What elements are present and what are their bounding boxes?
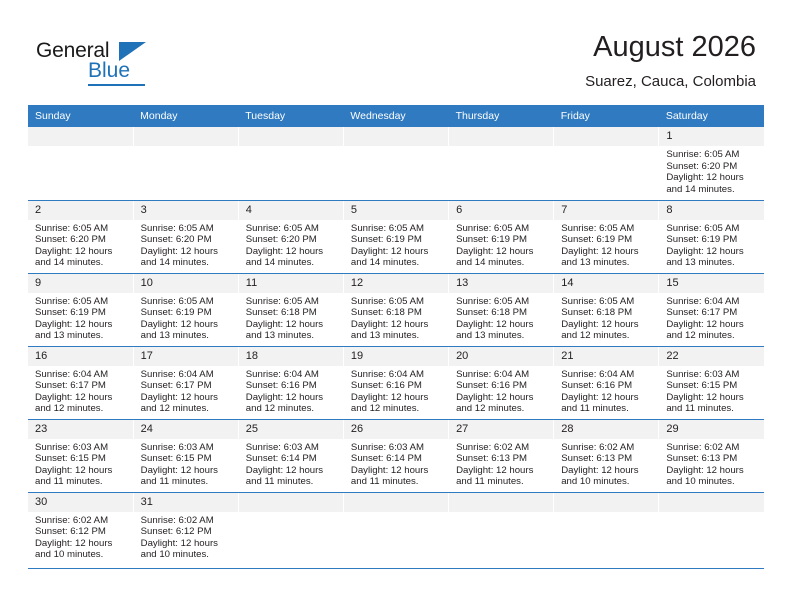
calendar-day-cell[interactable]: 2Sunrise: 6:05 AMSunset: 6:20 PMDaylight… — [28, 200, 133, 273]
calendar-day-cell[interactable]: 12Sunrise: 6:05 AMSunset: 6:18 PMDayligh… — [343, 273, 448, 346]
sunrise-text: Sunrise: 6:05 AM — [561, 223, 654, 235]
day-details: Sunrise: 6:03 AMSunset: 6:14 PMDaylight:… — [344, 439, 448, 488]
daylight-text-line2: and 11 minutes. — [246, 476, 339, 488]
calendar-week-row: 30Sunrise: 6:02 AMSunset: 6:12 PMDayligh… — [28, 492, 764, 568]
day-number: 7 — [554, 201, 658, 220]
daylight-text-line1: Daylight: 12 hours — [666, 465, 760, 477]
daylight-text-line1: Daylight: 12 hours — [666, 319, 760, 331]
sunrise-text: Sunrise: 6:04 AM — [456, 369, 549, 381]
sunset-text: Sunset: 6:18 PM — [246, 307, 339, 319]
daylight-text-line1: Daylight: 12 hours — [351, 319, 444, 331]
weekday-header-monday: Monday — [133, 105, 238, 127]
day-details: Sunrise: 6:04 AMSunset: 6:16 PMDaylight:… — [239, 366, 343, 415]
daylight-text-line2: and 10 minutes. — [561, 476, 654, 488]
daylight-text-line1: Daylight: 12 hours — [456, 465, 549, 477]
day-number: 25 — [239, 420, 343, 439]
sunrise-text: Sunrise: 6:05 AM — [351, 223, 444, 235]
sunrise-text: Sunrise: 6:02 AM — [666, 442, 760, 454]
day-number: 5 — [344, 201, 448, 220]
logo-text-blue: Blue — [88, 60, 130, 82]
daylight-text-line2: and 13 minutes. — [246, 330, 339, 342]
calendar-day-cell[interactable]: 29Sunrise: 6:02 AMSunset: 6:13 PMDayligh… — [659, 419, 764, 492]
day-details: Sunrise: 6:05 AMSunset: 6:19 PMDaylight:… — [554, 220, 658, 269]
daylight-text-line2: and 10 minutes. — [666, 476, 760, 488]
day-details: Sunrise: 6:03 AMSunset: 6:15 PMDaylight:… — [134, 439, 238, 488]
sunrise-text: Sunrise: 6:05 AM — [141, 296, 234, 308]
day-number — [659, 493, 764, 512]
calendar-day-cell[interactable]: 6Sunrise: 6:05 AMSunset: 6:19 PMDaylight… — [449, 200, 554, 273]
weekday-header-wednesday: Wednesday — [343, 105, 448, 127]
sunrise-text: Sunrise: 6:05 AM — [35, 296, 129, 308]
day-content: 2Sunrise: 6:05 AMSunset: 6:20 PMDaylight… — [28, 201, 133, 273]
sunrise-text: Sunrise: 6:03 AM — [351, 442, 444, 454]
day-content: 1Sunrise: 6:05 AMSunset: 6:20 PMDaylight… — [659, 127, 764, 200]
location-subtitle: Suarez, Cauca, Colombia — [585, 73, 756, 91]
day-content: 21Sunrise: 6:04 AMSunset: 6:16 PMDayligh… — [554, 347, 658, 419]
daylight-text-line2: and 10 minutes. — [35, 549, 129, 561]
calendar-page: General Blue August 2026 Suarez, Cauca, … — [0, 0, 792, 612]
day-details: Sunrise: 6:04 AMSunset: 6:17 PMDaylight:… — [134, 366, 238, 415]
sunset-text: Sunset: 6:19 PM — [351, 234, 444, 246]
empty-day — [344, 127, 448, 200]
sunrise-text: Sunrise: 6:05 AM — [246, 223, 339, 235]
calendar-day-cell[interactable]: 21Sunrise: 6:04 AMSunset: 6:16 PMDayligh… — [554, 346, 659, 419]
daylight-text-line1: Daylight: 12 hours — [561, 392, 654, 404]
calendar-day-cell[interactable]: 31Sunrise: 6:02 AMSunset: 6:12 PMDayligh… — [133, 492, 238, 568]
sunrise-text: Sunrise: 6:04 AM — [246, 369, 339, 381]
calendar-week-row: 2Sunrise: 6:05 AMSunset: 6:20 PMDaylight… — [28, 200, 764, 273]
day-details: Sunrise: 6:04 AMSunset: 6:17 PMDaylight:… — [28, 366, 133, 415]
sunrise-text: Sunrise: 6:05 AM — [35, 223, 129, 235]
day-content: 26Sunrise: 6:03 AMSunset: 6:14 PMDayligh… — [344, 420, 448, 492]
day-details: Sunrise: 6:02 AMSunset: 6:12 PMDaylight:… — [134, 512, 238, 561]
day-number: 15 — [659, 274, 764, 293]
sunset-text: Sunset: 6:17 PM — [666, 307, 760, 319]
day-content: 18Sunrise: 6:04 AMSunset: 6:16 PMDayligh… — [239, 347, 343, 419]
day-details: Sunrise: 6:05 AMSunset: 6:18 PMDaylight:… — [554, 293, 658, 342]
day-number: 2 — [28, 201, 133, 220]
calendar-day-cell[interactable]: 3Sunrise: 6:05 AMSunset: 6:20 PMDaylight… — [133, 200, 238, 273]
daylight-text-line2: and 12 minutes. — [456, 403, 549, 415]
day-content: 27Sunrise: 6:02 AMSunset: 6:13 PMDayligh… — [449, 420, 553, 492]
sunset-text: Sunset: 6:12 PM — [141, 526, 234, 538]
sunset-text: Sunset: 6:14 PM — [246, 453, 339, 465]
daylight-text-line2: and 14 minutes. — [351, 257, 444, 269]
calendar-day-cell[interactable]: 1Sunrise: 6:05 AMSunset: 6:20 PMDaylight… — [659, 127, 764, 200]
day-content: 30Sunrise: 6:02 AMSunset: 6:12 PMDayligh… — [28, 493, 133, 568]
day-number: 29 — [659, 420, 764, 439]
sunrise-text: Sunrise: 6:02 AM — [456, 442, 549, 454]
sunrise-text: Sunrise: 6:05 AM — [456, 296, 549, 308]
day-content: 23Sunrise: 6:03 AMSunset: 6:15 PMDayligh… — [28, 420, 133, 492]
weekday-header-row: Sunday Monday Tuesday Wednesday Thursday… — [28, 105, 764, 127]
daylight-text-line1: Daylight: 12 hours — [35, 538, 129, 550]
day-number: 31 — [134, 493, 238, 512]
daylight-text-line2: and 11 minutes. — [456, 476, 549, 488]
sunset-text: Sunset: 6:18 PM — [561, 307, 654, 319]
calendar-day-cell[interactable]: 17Sunrise: 6:04 AMSunset: 6:17 PMDayligh… — [133, 346, 238, 419]
day-number: 12 — [344, 274, 448, 293]
day-number: 18 — [239, 347, 343, 366]
calendar-day-cell — [343, 492, 448, 568]
calendar-day-cell — [238, 127, 343, 200]
day-number: 21 — [554, 347, 658, 366]
calendar-day-cell — [133, 127, 238, 200]
sunrise-text: Sunrise: 6:05 AM — [456, 223, 549, 235]
empty-day — [449, 493, 553, 568]
sunset-text: Sunset: 6:19 PM — [561, 234, 654, 246]
empty-day — [344, 493, 448, 568]
sunset-text: Sunset: 6:19 PM — [141, 307, 234, 319]
day-content: 17Sunrise: 6:04 AMSunset: 6:17 PMDayligh… — [134, 347, 238, 419]
daylight-text-line2: and 12 minutes. — [35, 403, 129, 415]
calendar-day-cell — [554, 127, 659, 200]
day-details: Sunrise: 6:04 AMSunset: 6:16 PMDaylight:… — [449, 366, 553, 415]
sunrise-text: Sunrise: 6:02 AM — [561, 442, 654, 454]
sunset-text: Sunset: 6:13 PM — [456, 453, 549, 465]
weekday-header-tuesday: Tuesday — [238, 105, 343, 127]
calendar-day-cell[interactable]: 18Sunrise: 6:04 AMSunset: 6:16 PMDayligh… — [238, 346, 343, 419]
title-block: August 2026 Suarez, Cauca, Colombia — [585, 30, 756, 91]
sunrise-text: Sunrise: 6:02 AM — [35, 515, 129, 527]
calendar-week-row: 23Sunrise: 6:03 AMSunset: 6:15 PMDayligh… — [28, 419, 764, 492]
daylight-text-line1: Daylight: 12 hours — [141, 538, 234, 550]
daylight-text-line2: and 11 minutes. — [561, 403, 654, 415]
day-content: 7Sunrise: 6:05 AMSunset: 6:19 PMDaylight… — [554, 201, 658, 273]
daylight-text-line1: Daylight: 12 hours — [351, 465, 444, 477]
calendar-day-cell[interactable]: 28Sunrise: 6:02 AMSunset: 6:13 PMDayligh… — [554, 419, 659, 492]
day-number: 17 — [134, 347, 238, 366]
sunrise-text: Sunrise: 6:04 AM — [141, 369, 234, 381]
daylight-text-line2: and 10 minutes. — [141, 549, 234, 561]
calendar-day-cell[interactable]: 23Sunrise: 6:03 AMSunset: 6:15 PMDayligh… — [28, 419, 133, 492]
sunrise-text: Sunrise: 6:04 AM — [666, 296, 760, 308]
daylight-text-line1: Daylight: 12 hours — [456, 246, 549, 258]
day-number: 1 — [659, 127, 764, 146]
calendar-day-cell[interactable]: 20Sunrise: 6:04 AMSunset: 6:16 PMDayligh… — [449, 346, 554, 419]
day-details: Sunrise: 6:05 AMSunset: 6:19 PMDaylight:… — [659, 220, 764, 269]
daylight-text-line1: Daylight: 12 hours — [141, 319, 234, 331]
day-number: 16 — [28, 347, 133, 366]
day-number: 3 — [134, 201, 238, 220]
daylight-text-line1: Daylight: 12 hours — [561, 465, 654, 477]
calendar-day-cell[interactable]: 15Sunrise: 6:04 AMSunset: 6:17 PMDayligh… — [659, 273, 764, 346]
daylight-text-line1: Daylight: 12 hours — [246, 392, 339, 404]
day-content: 11Sunrise: 6:05 AMSunset: 6:18 PMDayligh… — [239, 274, 343, 346]
calendar-day-cell — [28, 127, 133, 200]
sunset-text: Sunset: 6:13 PM — [561, 453, 654, 465]
sunset-text: Sunset: 6:19 PM — [456, 234, 549, 246]
day-number — [554, 127, 658, 146]
daylight-text-line1: Daylight: 12 hours — [246, 465, 339, 477]
empty-day — [134, 127, 238, 200]
day-number: 10 — [134, 274, 238, 293]
daylight-text-line1: Daylight: 12 hours — [141, 392, 234, 404]
page-header: General Blue August 2026 Suarez, Cauca, … — [0, 0, 792, 100]
day-number: 27 — [449, 420, 553, 439]
calendar-day-cell[interactable]: 24Sunrise: 6:03 AMSunset: 6:15 PMDayligh… — [133, 419, 238, 492]
day-details: Sunrise: 6:05 AMSunset: 6:19 PMDaylight:… — [344, 220, 448, 269]
daylight-text-line2: and 11 minutes. — [35, 476, 129, 488]
calendar-day-cell — [659, 492, 764, 568]
day-details: Sunrise: 6:05 AMSunset: 6:20 PMDaylight:… — [134, 220, 238, 269]
day-content: 14Sunrise: 6:05 AMSunset: 6:18 PMDayligh… — [554, 274, 658, 346]
day-number — [239, 493, 343, 512]
day-content: 6Sunrise: 6:05 AMSunset: 6:19 PMDaylight… — [449, 201, 553, 273]
sunrise-text: Sunrise: 6:05 AM — [351, 296, 444, 308]
daylight-text-line1: Daylight: 12 hours — [246, 246, 339, 258]
calendar-day-cell[interactable]: 25Sunrise: 6:03 AMSunset: 6:14 PMDayligh… — [238, 419, 343, 492]
calendar-day-cell — [449, 127, 554, 200]
sunset-text: Sunset: 6:18 PM — [456, 307, 549, 319]
daylight-text-line2: and 14 minutes. — [456, 257, 549, 269]
calendar-week-row: 16Sunrise: 6:04 AMSunset: 6:17 PMDayligh… — [28, 346, 764, 419]
empty-day — [449, 127, 553, 200]
sunset-text: Sunset: 6:20 PM — [35, 234, 129, 246]
weekday-header-sunday: Sunday — [28, 105, 133, 127]
day-number — [344, 127, 448, 146]
day-number: 19 — [344, 347, 448, 366]
sunrise-text: Sunrise: 6:03 AM — [35, 442, 129, 454]
daylight-text-line1: Daylight: 12 hours — [351, 392, 444, 404]
day-details: Sunrise: 6:02 AMSunset: 6:13 PMDaylight:… — [554, 439, 658, 488]
sunrise-text: Sunrise: 6:05 AM — [666, 223, 760, 235]
sunset-text: Sunset: 6:16 PM — [456, 380, 549, 392]
day-details: Sunrise: 6:04 AMSunset: 6:16 PMDaylight:… — [554, 366, 658, 415]
sunrise-text: Sunrise: 6:05 AM — [666, 149, 760, 161]
page-title: August 2026 — [585, 30, 756, 64]
day-details: Sunrise: 6:05 AMSunset: 6:20 PMDaylight:… — [239, 220, 343, 269]
daylight-text-line1: Daylight: 12 hours — [141, 246, 234, 258]
daylight-text-line2: and 12 minutes. — [666, 330, 760, 342]
day-number — [239, 127, 343, 146]
day-content: 8Sunrise: 6:05 AMSunset: 6:19 PMDaylight… — [659, 201, 764, 273]
day-details: Sunrise: 6:02 AMSunset: 6:13 PMDaylight:… — [659, 439, 764, 488]
day-number: 9 — [28, 274, 133, 293]
daylight-text-line1: Daylight: 12 hours — [35, 392, 129, 404]
day-number — [449, 493, 553, 512]
day-number: 8 — [659, 201, 764, 220]
day-number: 4 — [239, 201, 343, 220]
day-number — [344, 493, 448, 512]
calendar-day-cell[interactable]: 27Sunrise: 6:02 AMSunset: 6:13 PMDayligh… — [449, 419, 554, 492]
daylight-text-line2: and 12 minutes. — [141, 403, 234, 415]
sunset-text: Sunset: 6:16 PM — [246, 380, 339, 392]
day-details: Sunrise: 6:02 AMSunset: 6:12 PMDaylight:… — [28, 512, 133, 561]
daylight-text-line2: and 13 minutes. — [666, 257, 760, 269]
day-number: 20 — [449, 347, 553, 366]
calendar-day-cell[interactable]: 19Sunrise: 6:04 AMSunset: 6:16 PMDayligh… — [343, 346, 448, 419]
calendar-day-cell[interactable]: 14Sunrise: 6:05 AMSunset: 6:18 PMDayligh… — [554, 273, 659, 346]
sunset-text: Sunset: 6:19 PM — [35, 307, 129, 319]
daylight-text-line2: and 14 minutes. — [141, 257, 234, 269]
day-content: 13Sunrise: 6:05 AMSunset: 6:18 PMDayligh… — [449, 274, 553, 346]
daylight-text-line2: and 11 minutes. — [141, 476, 234, 488]
daylight-text-line2: and 13 minutes. — [456, 330, 549, 342]
sunrise-text: Sunrise: 6:04 AM — [35, 369, 129, 381]
sunset-text: Sunset: 6:18 PM — [351, 307, 444, 319]
day-content: 10Sunrise: 6:05 AMSunset: 6:19 PMDayligh… — [134, 274, 238, 346]
empty-day — [554, 493, 658, 568]
sunset-text: Sunset: 6:16 PM — [561, 380, 654, 392]
logo-underline — [88, 84, 145, 86]
daylight-text-line1: Daylight: 12 hours — [35, 465, 129, 477]
sunset-text: Sunset: 6:12 PM — [35, 526, 129, 538]
calendar-week-row: 1Sunrise: 6:05 AMSunset: 6:20 PMDaylight… — [28, 127, 764, 200]
day-number: 22 — [659, 347, 764, 366]
daylight-text-line1: Daylight: 12 hours — [351, 246, 444, 258]
daylight-text-line2: and 14 minutes. — [666, 184, 760, 196]
day-content: 3Sunrise: 6:05 AMSunset: 6:20 PMDaylight… — [134, 201, 238, 273]
daylight-text-line1: Daylight: 12 hours — [35, 319, 129, 331]
daylight-text-line1: Daylight: 12 hours — [666, 172, 760, 184]
day-number: 23 — [28, 420, 133, 439]
day-details: Sunrise: 6:05 AMSunset: 6:19 PMDaylight:… — [449, 220, 553, 269]
sunrise-text: Sunrise: 6:05 AM — [246, 296, 339, 308]
calendar-day-cell[interactable]: 8Sunrise: 6:05 AMSunset: 6:19 PMDaylight… — [659, 200, 764, 273]
calendar-day-cell[interactable]: 10Sunrise: 6:05 AMSunset: 6:19 PMDayligh… — [133, 273, 238, 346]
day-content: 25Sunrise: 6:03 AMSunset: 6:14 PMDayligh… — [239, 420, 343, 492]
daylight-text-line2: and 13 minutes. — [351, 330, 444, 342]
sunset-text: Sunset: 6:15 PM — [35, 453, 129, 465]
sunrise-text: Sunrise: 6:05 AM — [141, 223, 234, 235]
empty-day — [659, 493, 764, 568]
day-content: 20Sunrise: 6:04 AMSunset: 6:16 PMDayligh… — [449, 347, 553, 419]
day-number: 6 — [449, 201, 553, 220]
sunrise-text: Sunrise: 6:04 AM — [561, 369, 654, 381]
weekday-header-thursday: Thursday — [449, 105, 554, 127]
day-details: Sunrise: 6:05 AMSunset: 6:18 PMDaylight:… — [344, 293, 448, 342]
sunset-text: Sunset: 6:13 PM — [666, 453, 760, 465]
calendar-day-cell — [238, 492, 343, 568]
day-details: Sunrise: 6:05 AMSunset: 6:19 PMDaylight:… — [28, 293, 133, 342]
daylight-text-line1: Daylight: 12 hours — [456, 319, 549, 331]
day-content: 22Sunrise: 6:03 AMSunset: 6:15 PMDayligh… — [659, 347, 764, 419]
calendar-day-cell[interactable]: 22Sunrise: 6:03 AMSunset: 6:15 PMDayligh… — [659, 346, 764, 419]
day-content: 29Sunrise: 6:02 AMSunset: 6:13 PMDayligh… — [659, 420, 764, 492]
daylight-text-line1: Daylight: 12 hours — [246, 319, 339, 331]
day-content: 19Sunrise: 6:04 AMSunset: 6:16 PMDayligh… — [344, 347, 448, 419]
daylight-text-line2: and 12 minutes. — [351, 403, 444, 415]
day-number: 11 — [239, 274, 343, 293]
day-details: Sunrise: 6:02 AMSunset: 6:13 PMDaylight:… — [449, 439, 553, 488]
sunrise-sunset-calendar: Sunday Monday Tuesday Wednesday Thursday… — [28, 105, 764, 569]
day-number: 30 — [28, 493, 133, 512]
general-blue-logo[interactable]: General Blue — [36, 40, 186, 88]
sunset-text: Sunset: 6:15 PM — [141, 453, 234, 465]
day-number: 13 — [449, 274, 553, 293]
day-content: 9Sunrise: 6:05 AMSunset: 6:19 PMDaylight… — [28, 274, 133, 346]
calendar-day-cell[interactable]: 7Sunrise: 6:05 AMSunset: 6:19 PMDaylight… — [554, 200, 659, 273]
calendar-day-cell — [343, 127, 448, 200]
calendar-week-row: 9Sunrise: 6:05 AMSunset: 6:19 PMDaylight… — [28, 273, 764, 346]
daylight-text-line2: and 14 minutes. — [246, 257, 339, 269]
daylight-text-line2: and 13 minutes. — [35, 330, 129, 342]
day-details: Sunrise: 6:04 AMSunset: 6:16 PMDaylight:… — [344, 366, 448, 415]
day-details: Sunrise: 6:03 AMSunset: 6:15 PMDaylight:… — [28, 439, 133, 488]
weekday-header-friday: Friday — [554, 105, 659, 127]
sunset-text: Sunset: 6:20 PM — [246, 234, 339, 246]
daylight-text-line2: and 13 minutes. — [561, 257, 654, 269]
day-number — [28, 127, 133, 146]
day-content: 5Sunrise: 6:05 AMSunset: 6:19 PMDaylight… — [344, 201, 448, 273]
daylight-text-line1: Daylight: 12 hours — [666, 392, 760, 404]
sunrise-text: Sunrise: 6:03 AM — [141, 442, 234, 454]
empty-day — [239, 127, 343, 200]
daylight-text-line2: and 12 minutes. — [561, 330, 654, 342]
day-details: Sunrise: 6:03 AMSunset: 6:15 PMDaylight:… — [659, 366, 764, 415]
day-details: Sunrise: 6:05 AMSunset: 6:18 PMDaylight:… — [449, 293, 553, 342]
day-details: Sunrise: 6:05 AMSunset: 6:18 PMDaylight:… — [239, 293, 343, 342]
day-content: 12Sunrise: 6:05 AMSunset: 6:18 PMDayligh… — [344, 274, 448, 346]
calendar-day-cell[interactable]: 16Sunrise: 6:04 AMSunset: 6:17 PMDayligh… — [28, 346, 133, 419]
calendar-day-cell[interactable]: 26Sunrise: 6:03 AMSunset: 6:14 PMDayligh… — [343, 419, 448, 492]
day-number — [449, 127, 553, 146]
daylight-text-line1: Daylight: 12 hours — [666, 246, 760, 258]
day-details: Sunrise: 6:05 AMSunset: 6:19 PMDaylight:… — [134, 293, 238, 342]
day-content: 24Sunrise: 6:03 AMSunset: 6:15 PMDayligh… — [134, 420, 238, 492]
sunset-text: Sunset: 6:20 PM — [141, 234, 234, 246]
calendar-day-cell — [449, 492, 554, 568]
day-content: 15Sunrise: 6:04 AMSunset: 6:17 PMDayligh… — [659, 274, 764, 346]
calendar-day-cell — [554, 492, 659, 568]
sunrise-text: Sunrise: 6:02 AM — [141, 515, 234, 527]
calendar-day-cell[interactable]: 30Sunrise: 6:02 AMSunset: 6:12 PMDayligh… — [28, 492, 133, 568]
empty-day — [28, 127, 133, 200]
day-content: 16Sunrise: 6:04 AMSunset: 6:17 PMDayligh… — [28, 347, 133, 419]
daylight-text-line2: and 11 minutes. — [351, 476, 444, 488]
empty-day — [239, 493, 343, 568]
sunset-text: Sunset: 6:15 PM — [666, 380, 760, 392]
day-number: 24 — [134, 420, 238, 439]
daylight-text-line1: Daylight: 12 hours — [35, 246, 129, 258]
daylight-text-line1: Daylight: 12 hours — [456, 392, 549, 404]
calendar-day-cell[interactable]: 4Sunrise: 6:05 AMSunset: 6:20 PMDaylight… — [238, 200, 343, 273]
daylight-text-line1: Daylight: 12 hours — [561, 246, 654, 258]
sunset-text: Sunset: 6:14 PM — [351, 453, 444, 465]
day-details: Sunrise: 6:03 AMSunset: 6:14 PMDaylight:… — [239, 439, 343, 488]
calendar-day-cell[interactable]: 11Sunrise: 6:05 AMSunset: 6:18 PMDayligh… — [238, 273, 343, 346]
day-number: 14 — [554, 274, 658, 293]
daylight-text-line2: and 13 minutes. — [141, 330, 234, 342]
sunrise-text: Sunrise: 6:04 AM — [351, 369, 444, 381]
daylight-text-line2: and 14 minutes. — [35, 257, 129, 269]
day-number: 28 — [554, 420, 658, 439]
sunrise-text: Sunrise: 6:05 AM — [561, 296, 654, 308]
day-details: Sunrise: 6:05 AMSunset: 6:20 PMDaylight:… — [28, 220, 133, 269]
empty-day — [554, 127, 658, 200]
day-number: 26 — [344, 420, 448, 439]
weekday-header-saturday: Saturday — [659, 105, 764, 127]
calendar-day-cell[interactable]: 13Sunrise: 6:05 AMSunset: 6:18 PMDayligh… — [449, 273, 554, 346]
day-number — [554, 493, 658, 512]
sunset-text: Sunset: 6:17 PM — [141, 380, 234, 392]
sunset-text: Sunset: 6:16 PM — [351, 380, 444, 392]
calendar-body: 1Sunrise: 6:05 AMSunset: 6:20 PMDaylight… — [28, 127, 764, 568]
calendar-day-cell[interactable]: 9Sunrise: 6:05 AMSunset: 6:19 PMDaylight… — [28, 273, 133, 346]
day-details: Sunrise: 6:05 AMSunset: 6:20 PMDaylight:… — [659, 146, 764, 195]
daylight-text-line1: Daylight: 12 hours — [141, 465, 234, 477]
sunset-text: Sunset: 6:20 PM — [666, 161, 760, 173]
sunset-text: Sunset: 6:17 PM — [35, 380, 129, 392]
day-number — [134, 127, 238, 146]
daylight-text-line1: Daylight: 12 hours — [561, 319, 654, 331]
daylight-text-line2: and 11 minutes. — [666, 403, 760, 415]
sunrise-text: Sunrise: 6:03 AM — [666, 369, 760, 381]
sunset-text: Sunset: 6:19 PM — [666, 234, 760, 246]
day-content: 31Sunrise: 6:02 AMSunset: 6:12 PMDayligh… — [134, 493, 238, 568]
calendar-day-cell[interactable]: 5Sunrise: 6:05 AMSunset: 6:19 PMDaylight… — [343, 200, 448, 273]
